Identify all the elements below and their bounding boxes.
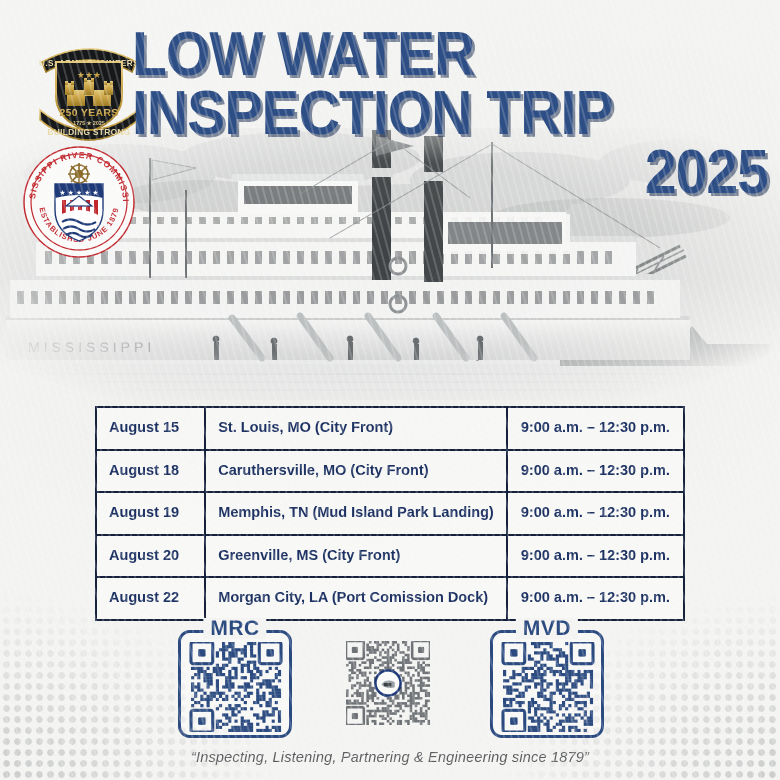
schedule-time-cell: 9:00 a.m. – 12:30 p.m.: [507, 492, 684, 535]
schedule-table-body: August 15St. Louis, MO (City Front)9:00 …: [96, 407, 684, 620]
table-row: August 18Caruthersville, MO (City Front)…: [96, 450, 684, 493]
qr-label-mrc: MRC: [203, 618, 266, 639]
title-line-2: INSPECTION TRIP: [132, 85, 717, 142]
svg-text:BUILDING STRONG: BUILDING STRONG: [47, 127, 130, 137]
qr-code-center[interactable]: [346, 641, 430, 730]
schedule-table: August 15St. Louis, MO (City Front)9:00 …: [95, 406, 685, 621]
title-line-1: LOW WATER: [132, 26, 717, 83]
schedule-time-cell: 9:00 a.m. – 12:30 p.m.: [507, 535, 684, 578]
schedule-date-cell: August 18: [96, 450, 205, 493]
schedule-time-cell: 9:00 a.m. – 12:30 p.m.: [507, 577, 684, 620]
schedule-date-cell: August 15: [96, 407, 205, 450]
svg-text:MISSISSIPPI: MISSISSIPPI: [28, 339, 155, 355]
qr-label-mvd: MVD: [516, 618, 578, 639]
qr-code-mrc[interactable]: MRC: [178, 630, 292, 738]
table-row: August 22Morgan City, LA (Port Comission…: [96, 577, 684, 620]
qr-code-mvd[interactable]: MVD: [490, 630, 604, 738]
schedule-location-cell: St. Louis, MO (City Front): [205, 407, 507, 450]
usace-250-years-logo: U.S. ARMY ENGINEERS ★★★ 250 YEARS 1775 ★…: [36, 34, 142, 142]
qr-matrix-mrc: [189, 642, 283, 732]
schedule-location-cell: Morgan City, LA (Port Comission Dock): [205, 577, 507, 620]
schedule-time-cell: 9:00 a.m. – 12:30 p.m.: [507, 407, 684, 450]
qr-frame-mrc: MRC: [178, 630, 292, 738]
qr-matrix-center: [346, 641, 430, 725]
qr-matrix-mvd: [501, 642, 595, 732]
schedule-date-cell: August 20: [96, 535, 205, 578]
svg-text:★★★: ★★★: [77, 70, 101, 80]
schedule-location-cell: Greenville, MS (City Front): [205, 535, 507, 578]
poster-tagline: “Inspecting, Listening, Partnering & Eng…: [0, 750, 780, 766]
schedule-location-cell: Caruthersville, MO (City Front): [205, 450, 507, 493]
schedule-location-cell: Memphis, TN (Mud Island Park Landing): [205, 492, 507, 535]
poster-title: LOW WATER INSPECTION TRIP 2025: [132, 26, 768, 201]
svg-text:250 YEARS: 250 YEARS: [59, 107, 118, 119]
poster-canvas: MISSISSIPPI: [0, 0, 780, 780]
schedule-date-cell: August 19: [96, 492, 205, 535]
table-row: August 15St. Louis, MO (City Front)9:00 …: [96, 407, 684, 450]
table-row: August 19Memphis, TN (Mud Island Park La…: [96, 492, 684, 535]
mississippi-river-commission-seal: MISSISSIPPI RIVER COMMISSION ESTABLISHED…: [21, 144, 137, 260]
qr-frame-mvd: MVD: [490, 630, 604, 738]
schedule-date-cell: August 22: [96, 577, 205, 620]
title-line-3: 2025: [183, 144, 768, 201]
schedule-time-cell: 9:00 a.m. – 12:30 p.m.: [507, 450, 684, 493]
table-row: August 20Greenville, MS (City Front)9:00…: [96, 535, 684, 578]
